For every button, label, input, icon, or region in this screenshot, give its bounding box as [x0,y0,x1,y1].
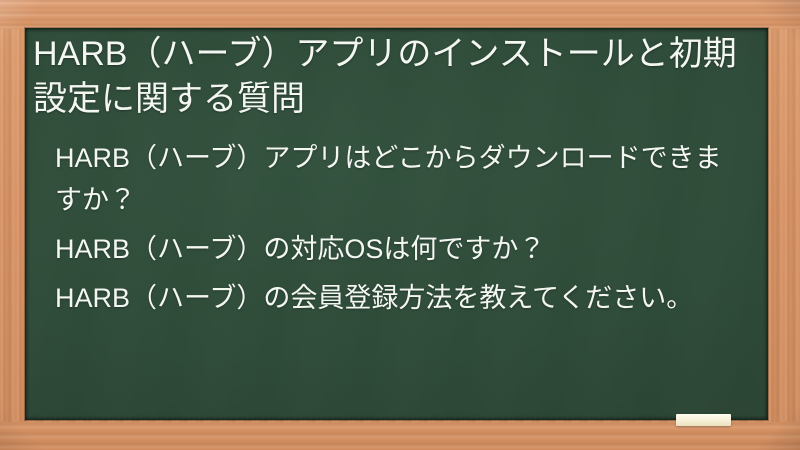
chalk-stick-icon [676,414,731,426]
faq-question-item: HARB（ハーブ）アプリはどこからダウンロードできますか？ [55,138,746,222]
chalkboard-content: HARB（ハーブ）アプリのインストールと初期設定に関する質問 HARB（ハーブ）… [25,28,768,320]
faq-question-item: HARB（ハーブ）の会員登録方法を教えてください。 [55,278,746,320]
slide-title: HARB（ハーブ）アプリのインストールと初期設定に関する質問 [33,30,758,122]
wooden-frame-top-rail [0,0,800,29]
faq-question-item: HARB（ハーブ）の対応OSは何ですか？ [55,229,746,271]
chalk-tray [0,422,800,450]
chalkboard-surface: HARB（ハーブ）アプリのインストールと初期設定に関する質問 HARB（ハーブ）… [25,28,768,420]
slide-canvas: HARB（ハーブ）アプリのインストールと初期設定に関する質問 HARB（ハーブ）… [0,0,800,450]
faq-question-list: HARB（ハーブ）アプリはどこからダウンロードできますか？ HARB（ハーブ）の… [33,138,758,319]
